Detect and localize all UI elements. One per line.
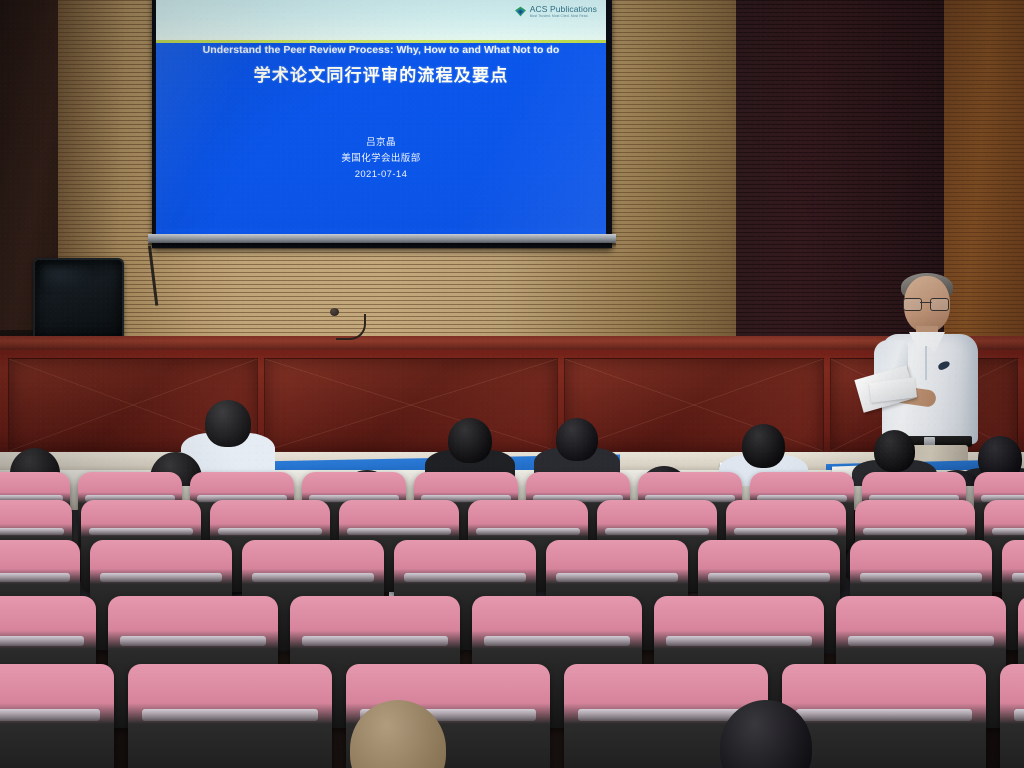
audience-front-row xyxy=(0,0,1024,768)
auditorium-seat xyxy=(128,664,332,768)
lecture-hall-photo: ACS Publications Most Trusted. Most Cite… xyxy=(0,0,1024,768)
auditorium-seat xyxy=(0,664,114,768)
auditorium-seat xyxy=(1000,664,1024,768)
auditorium-seat xyxy=(782,664,986,768)
